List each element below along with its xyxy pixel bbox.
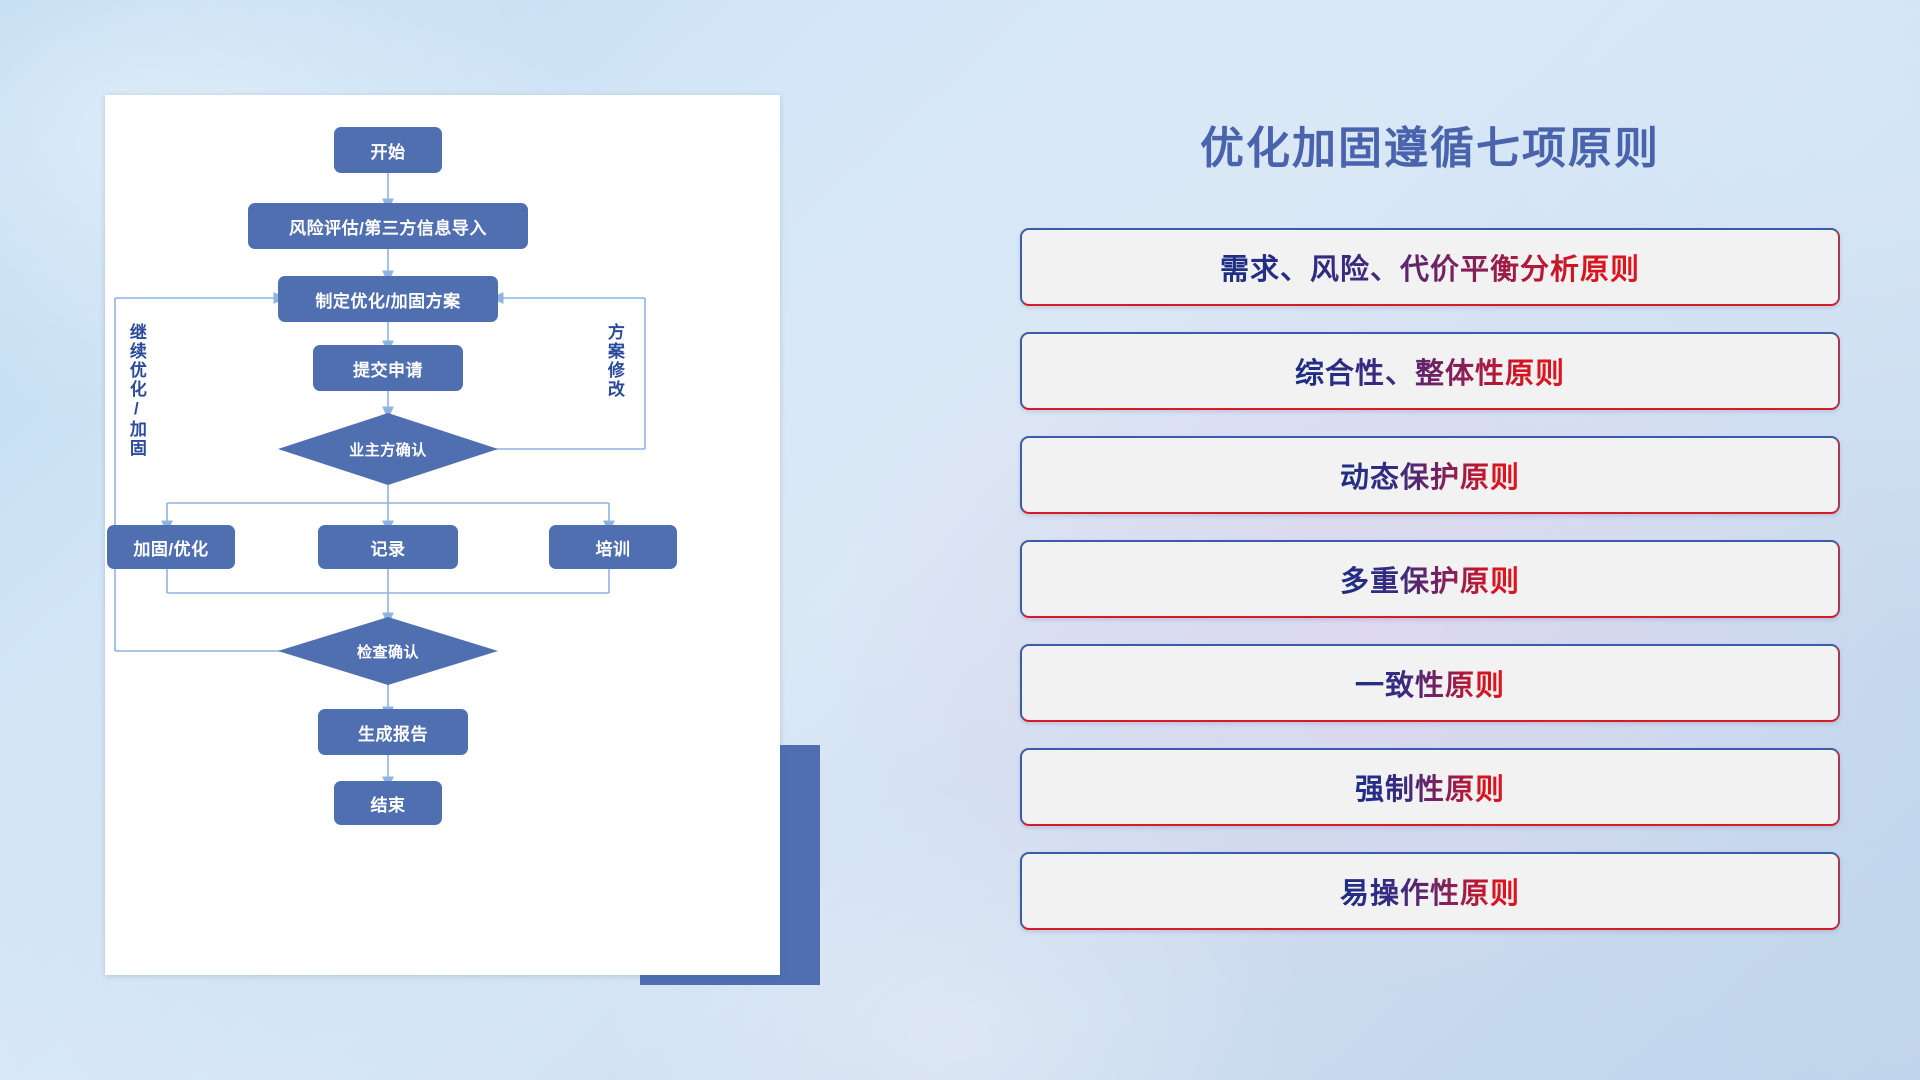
principle-label: 多重保护原则: [1340, 558, 1520, 600]
flow-node-train: [549, 525, 677, 569]
principle-label: 强制性原则: [1355, 766, 1505, 808]
flow-node-end: [334, 781, 442, 825]
flow-node-plan: [278, 276, 498, 322]
principle-card-1[interactable]: 需求、风险、代价平衡分析原则: [1020, 228, 1840, 306]
principle-card-7[interactable]: 易操作性原则: [1020, 852, 1840, 930]
principle-card-5[interactable]: 一致性原则: [1020, 644, 1840, 722]
principle-label: 综合性、整体性原则: [1295, 350, 1565, 392]
flow-node-harden: [107, 525, 235, 569]
flow-node-record: [318, 525, 458, 569]
page-title: 优化加固遵循七项原则: [1020, 112, 1840, 176]
flow-node-report: [318, 709, 468, 755]
principle-label: 需求、风险、代价平衡分析原则: [1220, 246, 1640, 288]
edge-label-plan-revision: 方案修改: [605, 323, 623, 399]
flow-node-start: [334, 127, 442, 173]
principles-list: 需求、风险、代价平衡分析原则 综合性、整体性原则 动态保护原则 多重保护原则 一…: [1020, 228, 1840, 956]
principle-label: 易操作性原则: [1340, 870, 1520, 912]
principle-card-6[interactable]: 强制性原则: [1020, 748, 1840, 826]
principle-label: 动态保护原则: [1340, 454, 1520, 496]
edge-label-continue-optimize: 继续优化/加固: [127, 323, 145, 458]
flowchart-connectors: [105, 95, 780, 975]
flow-node-check: [278, 617, 498, 685]
principle-card-2[interactable]: 综合性、整体性原则: [1020, 332, 1840, 410]
flow-node-approve: [278, 413, 498, 485]
principle-card-3[interactable]: 动态保护原则: [1020, 436, 1840, 514]
principle-card-4[interactable]: 多重保护原则: [1020, 540, 1840, 618]
flow-node-risk: [248, 203, 528, 249]
principle-label: 一致性原则: [1355, 662, 1505, 704]
flowchart-panel: 开始 风险评估/第三方信息导入 制定优化/加固方案 提交申请 业主方确认 加固/…: [105, 95, 780, 975]
principles-section: 优化加固遵循七项原则 需求、风险、代价平衡分析原则 综合性、整体性原则 动态保护…: [1020, 60, 1840, 1040]
flow-node-submit: [313, 345, 463, 391]
